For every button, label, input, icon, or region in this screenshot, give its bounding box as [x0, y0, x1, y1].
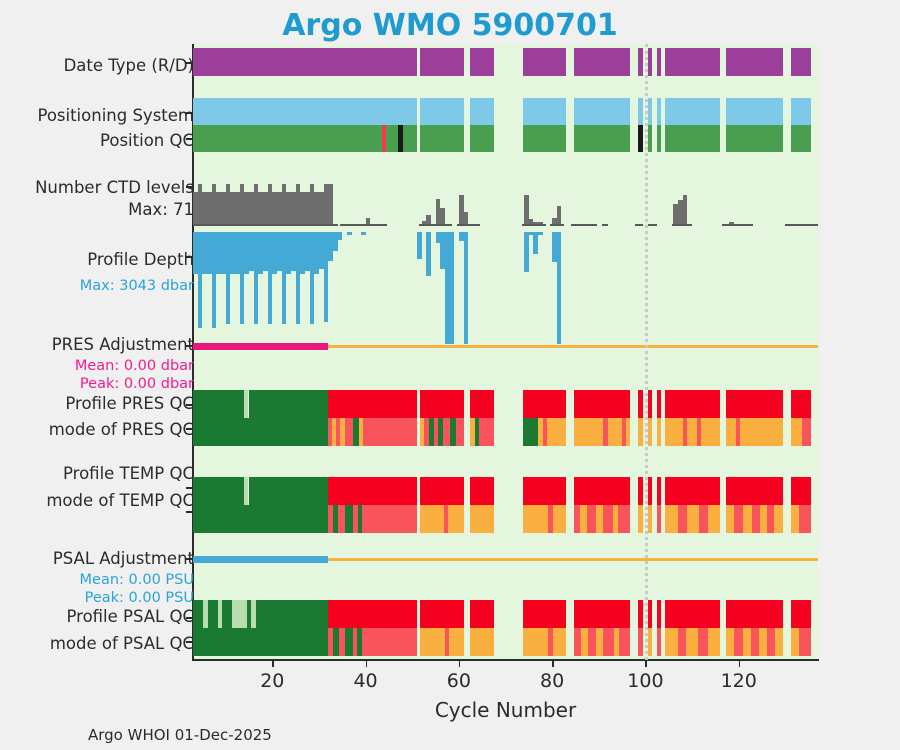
- y-tick: [186, 641, 193, 643]
- date-type-block: [657, 48, 661, 76]
- qc-block: [648, 477, 652, 505]
- qc-block: [574, 628, 581, 656]
- qc-block: [734, 505, 743, 533]
- ctd-baseline: [419, 224, 452, 226]
- qc-block: [596, 505, 603, 533]
- qc-block: [448, 505, 464, 533]
- qc-block: [523, 418, 538, 446]
- qc-block: [743, 505, 751, 533]
- qc-block: [553, 505, 566, 533]
- qc-block: [665, 600, 720, 628]
- label-position-qc: Position QC: [100, 131, 194, 150]
- qc-block: [619, 628, 629, 656]
- qc-block: [420, 600, 465, 628]
- qc-block: [362, 628, 417, 656]
- ctd-baseline: [672, 224, 693, 226]
- qc-block: [726, 628, 734, 656]
- y-tick: [186, 112, 193, 114]
- ctd-baseline: [571, 224, 597, 226]
- qc-block: [775, 628, 783, 656]
- y-tick: [186, 186, 193, 188]
- label-pres-peak: Peak: 0.00 dbar: [80, 375, 194, 394]
- qc-block: [802, 418, 811, 446]
- qc-block: [665, 477, 720, 505]
- qc-block: [449, 628, 464, 656]
- ctd-baseline: [635, 224, 642, 226]
- psal-adjustment-line: [193, 556, 328, 563]
- qc-block: [547, 418, 566, 446]
- qc-block: [678, 628, 686, 656]
- label-mode-temp-qc: mode of TEMP QC: [46, 491, 194, 510]
- y-tick: [186, 428, 193, 430]
- qc-block: [648, 628, 652, 656]
- qc-block: [799, 628, 811, 656]
- qc-block: [648, 600, 652, 628]
- positioning-system-block: [665, 98, 720, 125]
- qc-block: [687, 418, 696, 446]
- y-tick: [186, 617, 193, 619]
- ctd-level-bar: [328, 184, 333, 226]
- mode-pres-qc-strip: [193, 418, 818, 446]
- qc-block: [603, 628, 613, 656]
- profile-depth-bar: [361, 232, 366, 235]
- qc-block: [618, 505, 629, 533]
- qc-block: [420, 477, 465, 505]
- qc-block: [678, 505, 687, 533]
- qc-block: [193, 418, 328, 446]
- label-profile-depth: Profile Depth: [87, 250, 194, 269]
- y-tick: [186, 558, 193, 560]
- y-tick: [186, 487, 193, 489]
- qc-block: [638, 477, 643, 505]
- x-axis-line: [192, 659, 819, 661]
- argo-float-summary-plot: Argo WMO 5900701 Date Type (R/D)Position…: [0, 0, 900, 750]
- qc-block: [380, 418, 417, 446]
- qc-block: [362, 505, 380, 533]
- positioning-system-block: [648, 98, 652, 125]
- qc-block: [193, 390, 244, 418]
- qc-block: [470, 390, 494, 418]
- label-profile-temp-qc: Profile TEMP QC: [63, 464, 194, 483]
- label-psal-peak: Peak: 0.00 PSU: [85, 589, 194, 608]
- qc-block: [345, 628, 353, 656]
- qc-block: [587, 505, 596, 533]
- qc-block: [328, 390, 417, 418]
- x-tick: [645, 660, 647, 667]
- qc-block: [726, 418, 736, 446]
- profile-depth-bar: [347, 232, 352, 235]
- qc-block: [523, 390, 566, 418]
- qc-block: [345, 505, 353, 533]
- qc-block: [657, 628, 661, 656]
- position-qc-block: [386, 125, 399, 152]
- qc-block: [638, 390, 643, 418]
- x-tick: [552, 660, 554, 667]
- positioning-system-block: [791, 98, 811, 125]
- qc-block: [638, 505, 643, 533]
- qc-block: [420, 390, 465, 418]
- qc-block: [588, 628, 596, 656]
- qc-block: [791, 628, 799, 656]
- x-tick-label: 60: [447, 670, 471, 692]
- profile-depth-bar: [557, 232, 562, 344]
- label-number-ctd-levels: Number CTD levels: [35, 178, 194, 197]
- label-date-type: Date Type (R/D): [64, 56, 194, 75]
- qc-block: [470, 477, 494, 505]
- qc-block: [740, 418, 783, 446]
- position-qc-block: [420, 125, 465, 152]
- date-type-block: [574, 48, 630, 76]
- profile-depth-bar: [426, 232, 431, 276]
- date-type-block: [523, 48, 566, 76]
- qc-block: [479, 418, 493, 446]
- qc-block: [208, 600, 218, 628]
- qc-block: [665, 505, 678, 533]
- positioning-system-block: [523, 98, 566, 125]
- qc-block: [380, 505, 417, 533]
- qc-block: [328, 600, 417, 628]
- date-type-block: [193, 48, 417, 76]
- y-tick: [186, 345, 193, 347]
- qc-block: [799, 505, 811, 533]
- date-type-block: [648, 48, 652, 76]
- x-tick: [366, 660, 368, 667]
- qc-block: [363, 418, 379, 446]
- qc-block: [638, 418, 643, 446]
- mode-temp-qc-strip: [193, 505, 818, 533]
- qc-block: [648, 505, 652, 533]
- label-mode-psal-qc: mode of PSAL QC: [50, 634, 194, 653]
- qc-block: [759, 628, 766, 656]
- label-ctd-max: Max: 71: [128, 200, 194, 219]
- qc-block: [708, 505, 720, 533]
- date-type-block: [665, 48, 720, 76]
- qc-block: [193, 505, 328, 533]
- y-tick: [186, 404, 193, 406]
- qc-block: [657, 600, 661, 628]
- qc-block: [596, 628, 603, 656]
- positioning-system-block: [574, 98, 630, 125]
- position-qc-block: [574, 125, 630, 152]
- qc-block: [222, 600, 232, 628]
- qc-block: [708, 628, 720, 656]
- qc-block: [767, 628, 775, 656]
- qc-block: [791, 477, 811, 505]
- qc-block: [686, 628, 697, 656]
- x-tick: [272, 660, 274, 667]
- qc-block: [193, 477, 244, 505]
- label-profile-pres-qc: Profile PRES QC: [65, 394, 194, 413]
- label-psal-mean: Mean: 0.00 PSU: [80, 571, 194, 590]
- qc-block: [657, 505, 661, 533]
- profile-pres-qc-strip: [193, 390, 818, 418]
- qc-block: [687, 505, 699, 533]
- ctd-baseline: [785, 224, 818, 226]
- x-tick-label: 40: [353, 670, 377, 692]
- qc-block: [574, 390, 630, 418]
- qc-block: [574, 418, 604, 446]
- qc-block: [328, 477, 417, 505]
- label-pres-adjustment: PRES Adjustment: [52, 335, 194, 354]
- qc-block: [726, 390, 783, 418]
- qc-block: [791, 505, 799, 533]
- qc-block: [456, 418, 465, 446]
- qc-block: [626, 418, 630, 446]
- profile-psal-qc-strip: [193, 600, 818, 628]
- pres-adjustment-line: [193, 343, 328, 350]
- qc-block: [698, 628, 708, 656]
- x-tick: [459, 660, 461, 667]
- ctd-level-bar: [683, 195, 688, 226]
- qc-block: [420, 628, 445, 656]
- position-qc-block: [665, 125, 720, 152]
- position-qc-block: [638, 125, 643, 152]
- label-psal-adjustment: PSAL Adjustment: [53, 549, 194, 568]
- qc-block: [665, 628, 678, 656]
- label-profile-psal-qc: Profile PSAL QC: [66, 607, 194, 626]
- qc-block: [665, 418, 683, 446]
- position-qc-block: [470, 125, 494, 152]
- qc-block: [608, 418, 622, 446]
- x-tick-label: 80: [540, 670, 564, 692]
- ctd-levels-strip: [193, 180, 818, 226]
- ctd-baseline: [522, 224, 545, 226]
- ctd-baseline: [648, 224, 656, 226]
- qc-block: [657, 477, 661, 505]
- qc-block: [553, 628, 566, 656]
- profile-temp-qc-strip: [193, 477, 818, 505]
- pres-adjustment-zero-line: [328, 345, 818, 348]
- qc-block: [657, 418, 661, 446]
- footer-credit: Argo WHOI 01-Dec-2025: [88, 726, 272, 744]
- qc-block: [603, 505, 612, 533]
- profile-depth-bar: [417, 232, 422, 259]
- position-qc-block: [791, 125, 811, 152]
- qc-block: [726, 477, 783, 505]
- y-tick: [186, 256, 193, 258]
- qc-block: [726, 505, 734, 533]
- qc-block: [574, 505, 581, 533]
- page-title: Argo WMO 5900701: [0, 8, 900, 43]
- position-qc-block: [648, 125, 652, 152]
- qc-block: [665, 390, 720, 418]
- qc-block: [193, 628, 328, 656]
- qc-block: [580, 505, 587, 533]
- y-tick: [186, 62, 193, 64]
- date-type-block: [420, 48, 465, 76]
- qc-block: [752, 505, 760, 533]
- qc-block: [726, 600, 783, 628]
- qc-block: [581, 628, 588, 656]
- date-type-block: [791, 48, 811, 76]
- positioning-system-block: [657, 98, 661, 125]
- label-mode-pres-qc: mode of PRES QC: [49, 420, 194, 439]
- position-qc-block: [193, 125, 382, 152]
- qc-block: [574, 477, 630, 505]
- position-qc-strip: [193, 125, 818, 152]
- qc-block: [751, 628, 759, 656]
- profile-depth-bar: [450, 232, 455, 344]
- positioning-system-block: [470, 98, 494, 125]
- x-tick-label: 100: [627, 670, 663, 692]
- qc-block: [638, 600, 643, 628]
- qc-block: [657, 390, 661, 418]
- positioning-system-block: [420, 98, 465, 125]
- profile-depth-bar: [524, 232, 529, 272]
- qc-block: [523, 477, 566, 505]
- ctd-baseline: [193, 224, 338, 226]
- positioning-system-block: [193, 98, 417, 125]
- position-qc-block: [523, 125, 566, 152]
- qc-block: [249, 390, 329, 418]
- qc-block: [648, 390, 652, 418]
- y-tick: [186, 511, 193, 513]
- qc-block: [734, 628, 743, 656]
- qc-block: [256, 600, 328, 628]
- profile-depth-strip: [193, 232, 818, 344]
- qc-block: [791, 600, 811, 628]
- label-positioning-system: Positioning System: [37, 106, 194, 125]
- qc-block: [523, 628, 548, 656]
- qc-block: [701, 418, 720, 446]
- qc-block: [339, 628, 346, 656]
- qc-block: [249, 477, 329, 505]
- qc-block: [791, 418, 801, 446]
- ctd-baseline: [602, 224, 609, 226]
- y-tick: [186, 138, 193, 140]
- qc-block: [743, 628, 750, 656]
- qc-block: [470, 628, 494, 656]
- profile-depth-bar: [538, 232, 543, 235]
- position-qc-block: [403, 125, 417, 152]
- date-type-block: [470, 48, 494, 76]
- x-tick: [739, 660, 741, 667]
- qc-block: [760, 505, 767, 533]
- qc-block: [470, 505, 494, 533]
- ctd-baseline: [722, 224, 752, 226]
- label-depth-max: Max: 3043 dbar: [80, 277, 194, 296]
- qc-block: [193, 600, 203, 628]
- ctd-level-bar: [557, 206, 562, 226]
- qc-block: [648, 418, 652, 446]
- qc-block: [232, 600, 247, 628]
- date-type-block: [726, 48, 783, 76]
- position-qc-block: [657, 125, 661, 152]
- mode-psal-qc-strip: [193, 628, 818, 656]
- qc-block: [345, 418, 353, 446]
- ctd-baseline: [340, 224, 387, 226]
- positioning-system-strip: [193, 98, 818, 125]
- ctd-baseline: [550, 224, 564, 226]
- qc-block: [767, 505, 774, 533]
- profile-depth-bar: [338, 232, 343, 240]
- qc-block: [638, 628, 643, 656]
- profile-depth-bar: [533, 232, 538, 254]
- qc-block: [774, 505, 783, 533]
- position-qc-block: [726, 125, 783, 152]
- positioning-system-block: [726, 98, 783, 125]
- x-tick-label: 20: [260, 670, 284, 692]
- x-tick-label: 120: [721, 670, 757, 692]
- qc-block: [699, 505, 708, 533]
- qc-block: [470, 600, 494, 628]
- positioning-system-block: [638, 98, 643, 125]
- date-type-block: [638, 48, 643, 76]
- qc-block: [523, 600, 566, 628]
- psal-adjustment-zero-line: [328, 558, 818, 561]
- reference-line: [645, 44, 648, 660]
- qc-block: [791, 390, 811, 418]
- x-axis-title: Cycle Number: [193, 698, 818, 722]
- date-type-strip: [193, 48, 818, 76]
- qc-block: [574, 600, 630, 628]
- qc-block: [338, 505, 345, 533]
- qc-block: [523, 505, 548, 533]
- qc-block: [420, 505, 444, 533]
- profile-depth-bar: [464, 232, 469, 344]
- ctd-baseline: [457, 224, 480, 226]
- label-pres-mean: Mean: 0.00 dbar: [75, 357, 194, 376]
